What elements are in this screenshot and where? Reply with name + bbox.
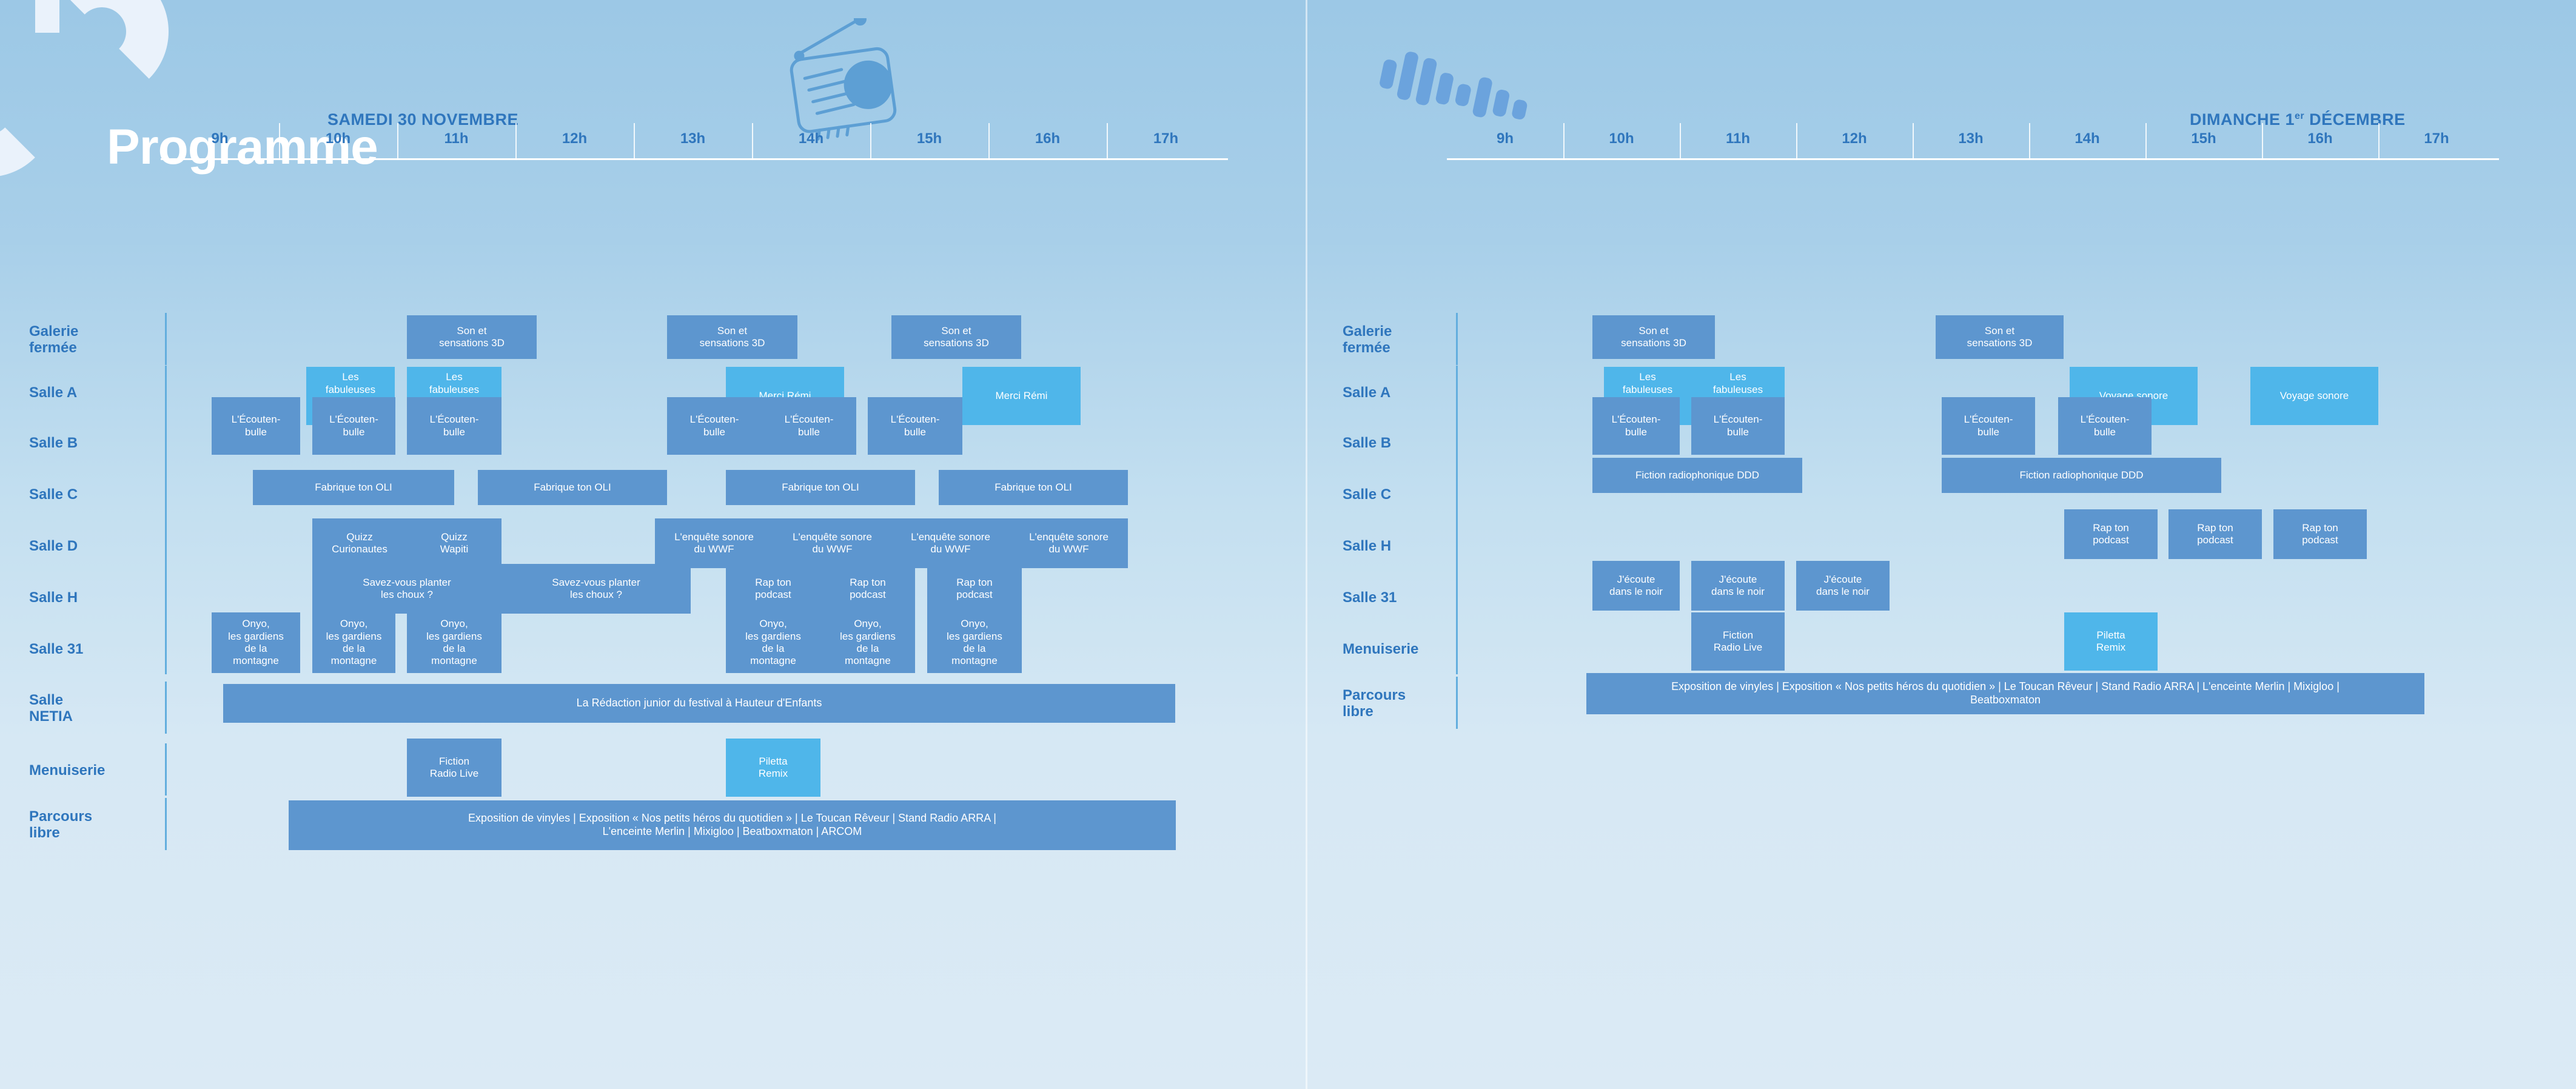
row-tick [165,682,167,734]
row-label-salle-b: Salle B [29,435,78,452]
row-label-menuiserie: Menuiserie [1343,642,1418,658]
row-tick [165,416,167,468]
event-block[interactable]: Fiction Radio Live [407,739,501,797]
hour-separator [1563,123,1565,159]
hour-label-10h: 10h [1563,125,1680,153]
hour-separator [2145,123,2147,159]
row-tick [1456,416,1458,468]
row-label-galerie-fermée: Galerie fermée [29,324,78,357]
hour-label-16h: 16h [2262,125,2378,153]
event-block[interactable]: Merci Rémi [962,367,1081,425]
event-block[interactable]: Rap ton podcast [726,564,820,614]
event-block[interactable]: Quizz Curionautes [312,518,407,568]
row-tick [165,366,167,418]
event-block[interactable]: L'Écouten- bulle [868,397,962,455]
event-block[interactable]: Piletta Remix [726,739,820,797]
schedule-saturday: SAMEDI 30 NOVEMBRE9h10h11h12h13h14h15h16… [0,0,1304,1089]
hour-label-13h: 13h [634,125,752,153]
event-block[interactable]: Onyo, les gardiens de la montagne [312,612,395,673]
row-label-salle-b: Salle B [1343,435,1391,452]
row-tick [1456,519,1458,571]
event-block[interactable]: Rap ton podcast [927,564,1022,614]
event-block[interactable]: Onyo, les gardiens de la montagne [212,612,300,673]
event-block[interactable]: Onyo, les gardiens de la montagne [407,612,501,673]
hour-separator [752,123,753,159]
hour-separator [634,123,635,159]
day-title-ordinal: er [2295,111,2304,121]
event-block[interactable]: Fabrique ton OLI [726,470,915,505]
hour-separator [2029,123,2030,159]
row-tick [1456,571,1458,623]
row-tick [1456,467,1458,520]
event-block[interactable]: Exposition de vinyles | Exposition « Nos… [289,800,1176,850]
row-label-menuiserie: Menuiserie [29,763,105,779]
event-block[interactable]: J'écoute dans le noir [1796,561,1890,611]
event-block[interactable]: Piletta Remix [2064,612,2158,671]
row-label-galerie-fermée: Galerie fermée [1343,324,1392,357]
event-block[interactable]: L'Écouten- bulle [667,397,762,455]
hour-separator [988,123,990,159]
event-block[interactable]: Son et sensations 3D [667,315,797,359]
hour-separator [1796,123,1797,159]
event-block[interactable]: L'enquête sonore du WWF [1010,518,1128,568]
hour-label-16h: 16h [988,125,1107,153]
event-block[interactable]: Son et sensations 3D [1592,315,1715,359]
row-label-parcours-libre: Parcours libre [1343,688,1406,720]
hour-separator [870,123,871,159]
hour-label-15h: 15h [2145,125,2262,153]
row-tick [1456,622,1458,674]
event-block[interactable]: Fiction Radio Live [1691,612,1785,671]
event-block[interactable]: Exposition de vinyles | Exposition « Nos… [1586,673,2424,714]
hour-label-11h: 11h [397,125,515,153]
event-block[interactable]: L'Écouten- bulle [762,397,856,455]
event-block[interactable]: Son et sensations 3D [891,315,1021,359]
event-block[interactable]: J'écoute dans le noir [1691,561,1785,611]
row-tick [165,467,167,520]
row-tick [165,743,167,796]
event-block[interactable]: Fabrique ton OLI [478,470,667,505]
time-axis-line [161,158,1228,160]
event-block[interactable]: Rap ton podcast [2064,509,2158,559]
event-block[interactable]: Son et sensations 3D [1936,315,2064,359]
event-block[interactable]: L'enquête sonore du WWF [655,518,773,568]
hour-label-14h: 14h [2029,125,2145,153]
row-tick [1456,366,1458,418]
row-tick [165,622,167,674]
hour-label-17h: 17h [2378,125,2495,153]
row-tick [165,571,167,623]
row-label-salle-c: Salle C [1343,487,1391,503]
row-label-salle-31: Salle 31 [1343,590,1397,606]
hour-label-10h: 10h [279,125,397,153]
row-tick [1456,677,1458,729]
event-block[interactable]: Voyage sonore [2250,367,2378,425]
hour-separator [279,123,280,159]
event-block[interactable]: Son et sensations 3D [407,315,537,359]
event-block[interactable]: Onyo, les gardiens de la montagne [726,612,820,673]
hour-separator [2378,123,2380,159]
row-label-salle-a: Salle A [29,385,77,401]
row-label-salle-d: Salle D [29,538,78,555]
row-tick [165,798,167,850]
row-label-parcours-libre: Parcours libre [29,809,92,842]
row-label-salle-netia: Salle NETIA [29,692,73,725]
hour-label-12h: 12h [1796,125,1913,153]
event-block[interactable]: L'enquête sonore du WWF [773,518,891,568]
event-block[interactable]: La Rédaction junior du festival à Hauteu… [223,684,1175,723]
row-tick [1456,313,1458,365]
event-block[interactable]: Fabrique ton OLI [253,470,454,505]
hour-label-12h: 12h [515,125,634,153]
hour-separator [397,123,398,159]
hour-separator [1680,123,1681,159]
event-block[interactable]: L'Écouten- bulle [1942,397,2035,455]
time-axis-line [1447,158,2499,160]
hour-separator [1107,123,1108,159]
row-tick [165,313,167,365]
row-tick [165,519,167,571]
event-block[interactable]: L'Écouten- bulle [312,397,395,455]
hour-label-17h: 17h [1107,125,1225,153]
row-label-salle-h: Salle H [1343,538,1391,555]
event-block[interactable]: L'Écouten- bulle [212,397,300,455]
row-label-salle-a: Salle A [1343,385,1390,401]
hour-label-9h: 9h [1447,125,1563,153]
event-block[interactable]: Rap ton podcast [820,564,915,614]
row-label-salle-c: Salle C [29,487,78,503]
event-block[interactable]: Onyo, les gardiens de la montagne [820,612,915,673]
hour-label-15h: 15h [870,125,988,153]
event-block[interactable]: Onyo, les gardiens de la montagne [927,612,1022,673]
event-block[interactable]: Quizz Wapiti [407,518,501,568]
event-block[interactable]: L'Écouten- bulle [2058,397,2152,455]
hour-separator [2262,123,2263,159]
event-block[interactable]: Savez-vous planter les choux ? [501,564,691,614]
schedule-sunday: DIMANCHE 1er DÉCEMBRE9h10h11h12h13h14h15… [1307,0,2576,1089]
row-label-salle-31: Salle 31 [29,642,83,658]
event-block[interactable]: L'Écouten- bulle [407,397,501,455]
hour-label-11h: 11h [1680,125,1796,153]
hour-label-9h: 9h [161,125,279,153]
event-block[interactable]: Savez-vous planter les choux ? [312,564,501,614]
event-block[interactable]: J'écoute dans le noir [1592,561,1680,611]
event-block[interactable]: L'enquête sonore du WWF [891,518,1010,568]
hour-label-13h: 13h [1913,125,2029,153]
event-block[interactable]: Fabrique ton OLI [939,470,1128,505]
event-block[interactable]: L'Écouten- bulle [1691,397,1785,455]
event-block[interactable]: L'Écouten- bulle [1592,397,1680,455]
event-block[interactable]: Rap ton podcast [2273,509,2367,559]
hour-separator [515,123,517,159]
row-label-salle-h: Salle H [29,590,78,606]
hour-label-14h: 14h [752,125,870,153]
hour-separator [1913,123,1914,159]
event-block[interactable]: Rap ton podcast [2168,509,2262,559]
event-block[interactable]: Fiction radiophonique DDD [1942,458,2221,493]
event-block[interactable]: Fiction radiophonique DDD [1592,458,1802,493]
